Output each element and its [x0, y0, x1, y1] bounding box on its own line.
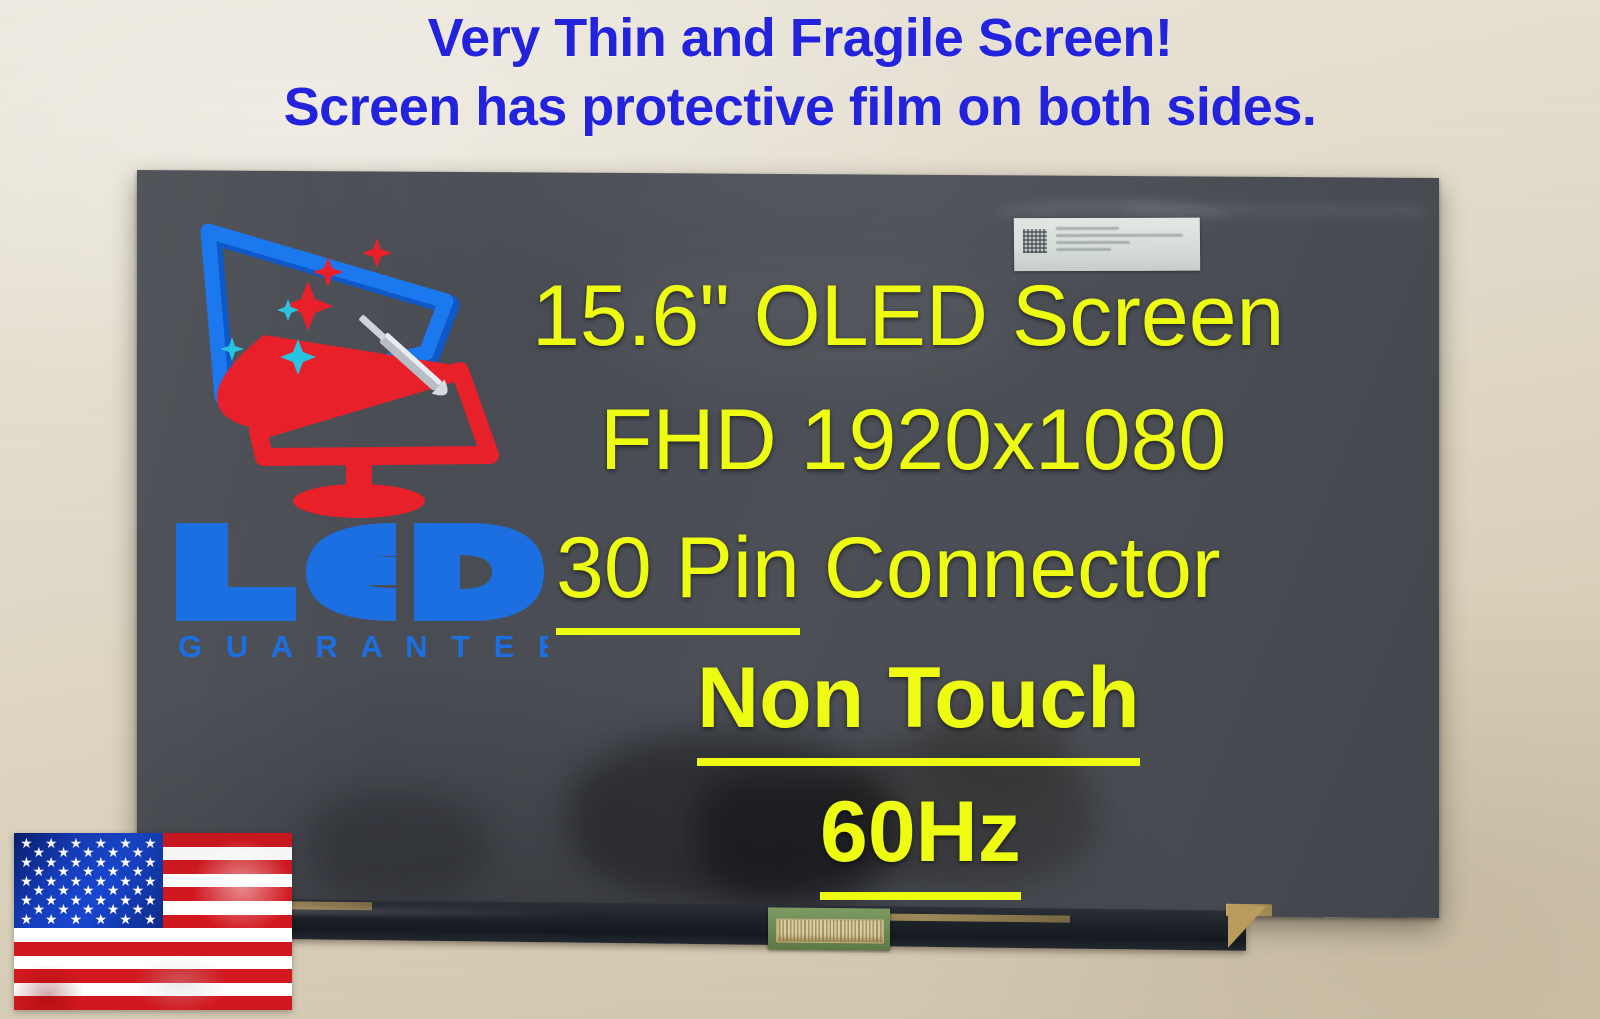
- flag-star: ★: [126, 902, 151, 916]
- flag-star: ★: [101, 902, 126, 916]
- flag-star: ★: [76, 902, 101, 916]
- spec-touch: Non Touch: [697, 655, 1140, 741]
- flag-stripe: [14, 928, 292, 942]
- flag-stripe: [14, 983, 292, 997]
- spec-refresh-rate: 60Hz: [820, 789, 1021, 875]
- flag-star: ★: [76, 883, 101, 897]
- flag-star: ★: [26, 883, 51, 897]
- flag-star: ★: [76, 864, 101, 878]
- flag-star: ★: [51, 883, 76, 897]
- flag-star: ★: [26, 845, 51, 859]
- flag-stripe: [14, 969, 292, 983]
- logo-wordmark: [176, 523, 544, 621]
- flag-star: ★: [101, 883, 126, 897]
- sticker-line-1: [1056, 227, 1119, 230]
- flag-stripe: [14, 942, 292, 956]
- spec-connector: 30 Pin Connector: [556, 525, 1221, 611]
- spec-resolution: FHD 1920x1080: [600, 397, 1226, 483]
- sticker-line-4: [1056, 248, 1111, 251]
- flag-star: ★: [126, 883, 151, 897]
- headline-line-1: Very Thin and Fragile Screen!: [0, 4, 1600, 73]
- logo-red-monitor-icon: [217, 335, 490, 518]
- qr-code-icon: [1023, 229, 1047, 253]
- flag-star: ★: [26, 902, 51, 916]
- flag-star: ★: [51, 845, 76, 859]
- flag-star: ★: [101, 864, 126, 878]
- flag-star: ★: [76, 845, 101, 859]
- flag-stripe: [14, 956, 292, 970]
- spec-connector-word: Connector: [800, 520, 1221, 616]
- flag-stripe: [14, 996, 292, 1010]
- headline-line-2: Screen has protective film on both sides…: [0, 73, 1600, 142]
- sticker-text-lines: [1056, 227, 1188, 255]
- product-label-sticker: [1014, 218, 1200, 271]
- flag-star: ★: [26, 864, 51, 878]
- headline-banner: Very Thin and Fragile Screen! Screen has…: [0, 4, 1600, 142]
- flag-star: ★: [101, 845, 126, 859]
- sticker-line-2: [1056, 234, 1183, 237]
- spec-screen-size: 15.6" OLED Screen: [532, 273, 1284, 359]
- protective-film-wrinkle-2: [1127, 204, 1427, 216]
- panel-reflection-left: [307, 791, 487, 902]
- usa-flag-icon: ★★★★★★★★★★★★★★★★★★★★★★★★★★★★★★ ★★★★★★★★★…: [14, 833, 292, 1010]
- flag-star: ★: [51, 902, 76, 916]
- spec-refresh-text: 60Hz: [820, 784, 1021, 900]
- sticker-line-3: [1056, 241, 1130, 244]
- connector-pins: [776, 918, 884, 943]
- spec-connector-pin-count: 30 Pin: [556, 520, 800, 635]
- logo-tagline: G U A R A N T E E: [178, 629, 548, 664]
- flag-canton: ★★★★★★★★★★★★★★★★★★★★★★★★★★★★★★ ★★★★★★★★★…: [14, 833, 163, 928]
- lcd-guarantee-logo: G U A R A N T E E: [168, 205, 548, 665]
- spec-touch-text: Non Touch: [697, 650, 1140, 766]
- svg-text:G U A R A N T E E: G U A R A N T E E: [178, 629, 548, 664]
- flag-star: ★: [126, 864, 151, 878]
- ribbon-cable-assembly: [140, 896, 1300, 962]
- display-connector: [768, 907, 890, 950]
- flag-star: ★: [126, 845, 151, 859]
- flag-star: ★: [51, 864, 76, 878]
- flag-stars-grid-b: ★★★★★★★★★★★★★★★★★★★★: [26, 843, 150, 919]
- gold-corner-wedge: [1228, 906, 1266, 948]
